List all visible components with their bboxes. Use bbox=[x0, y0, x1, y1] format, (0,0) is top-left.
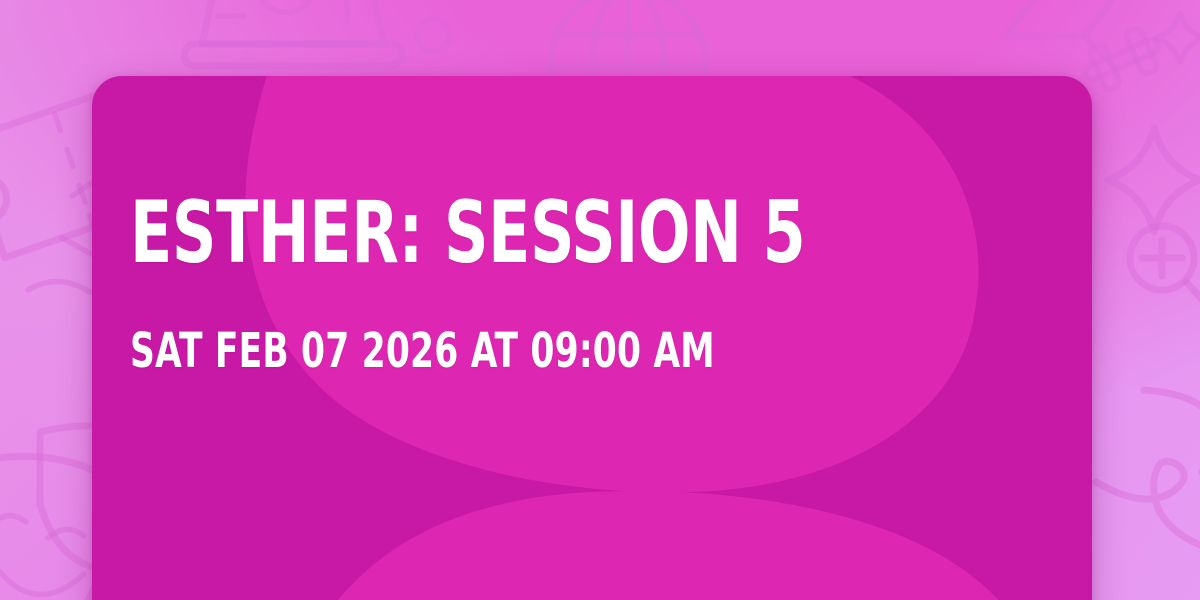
event-datetime: SAT FEB 07 2026 AT 09:00 AM bbox=[130, 327, 868, 375]
card-text-content: ESTHER: SESSION 5 SAT FEB 07 2026 AT 09:… bbox=[130, 194, 1052, 375]
sparkle-icon bbox=[1150, 8, 1200, 68]
swirl-icon bbox=[1092, 400, 1200, 600]
confetti-icon bbox=[20, 268, 100, 308]
circle-icon bbox=[406, 8, 460, 62]
circle-icon bbox=[1108, 210, 1200, 330]
event-banner: ESTHER: SESSION 5 SAT FEB 07 2026 AT 09:… bbox=[0, 0, 1200, 600]
event-title: ESTHER: SESSION 5 bbox=[130, 194, 868, 273]
event-card[interactable]: ESTHER: SESSION 5 SAT FEB 07 2026 AT 09:… bbox=[92, 76, 1092, 600]
